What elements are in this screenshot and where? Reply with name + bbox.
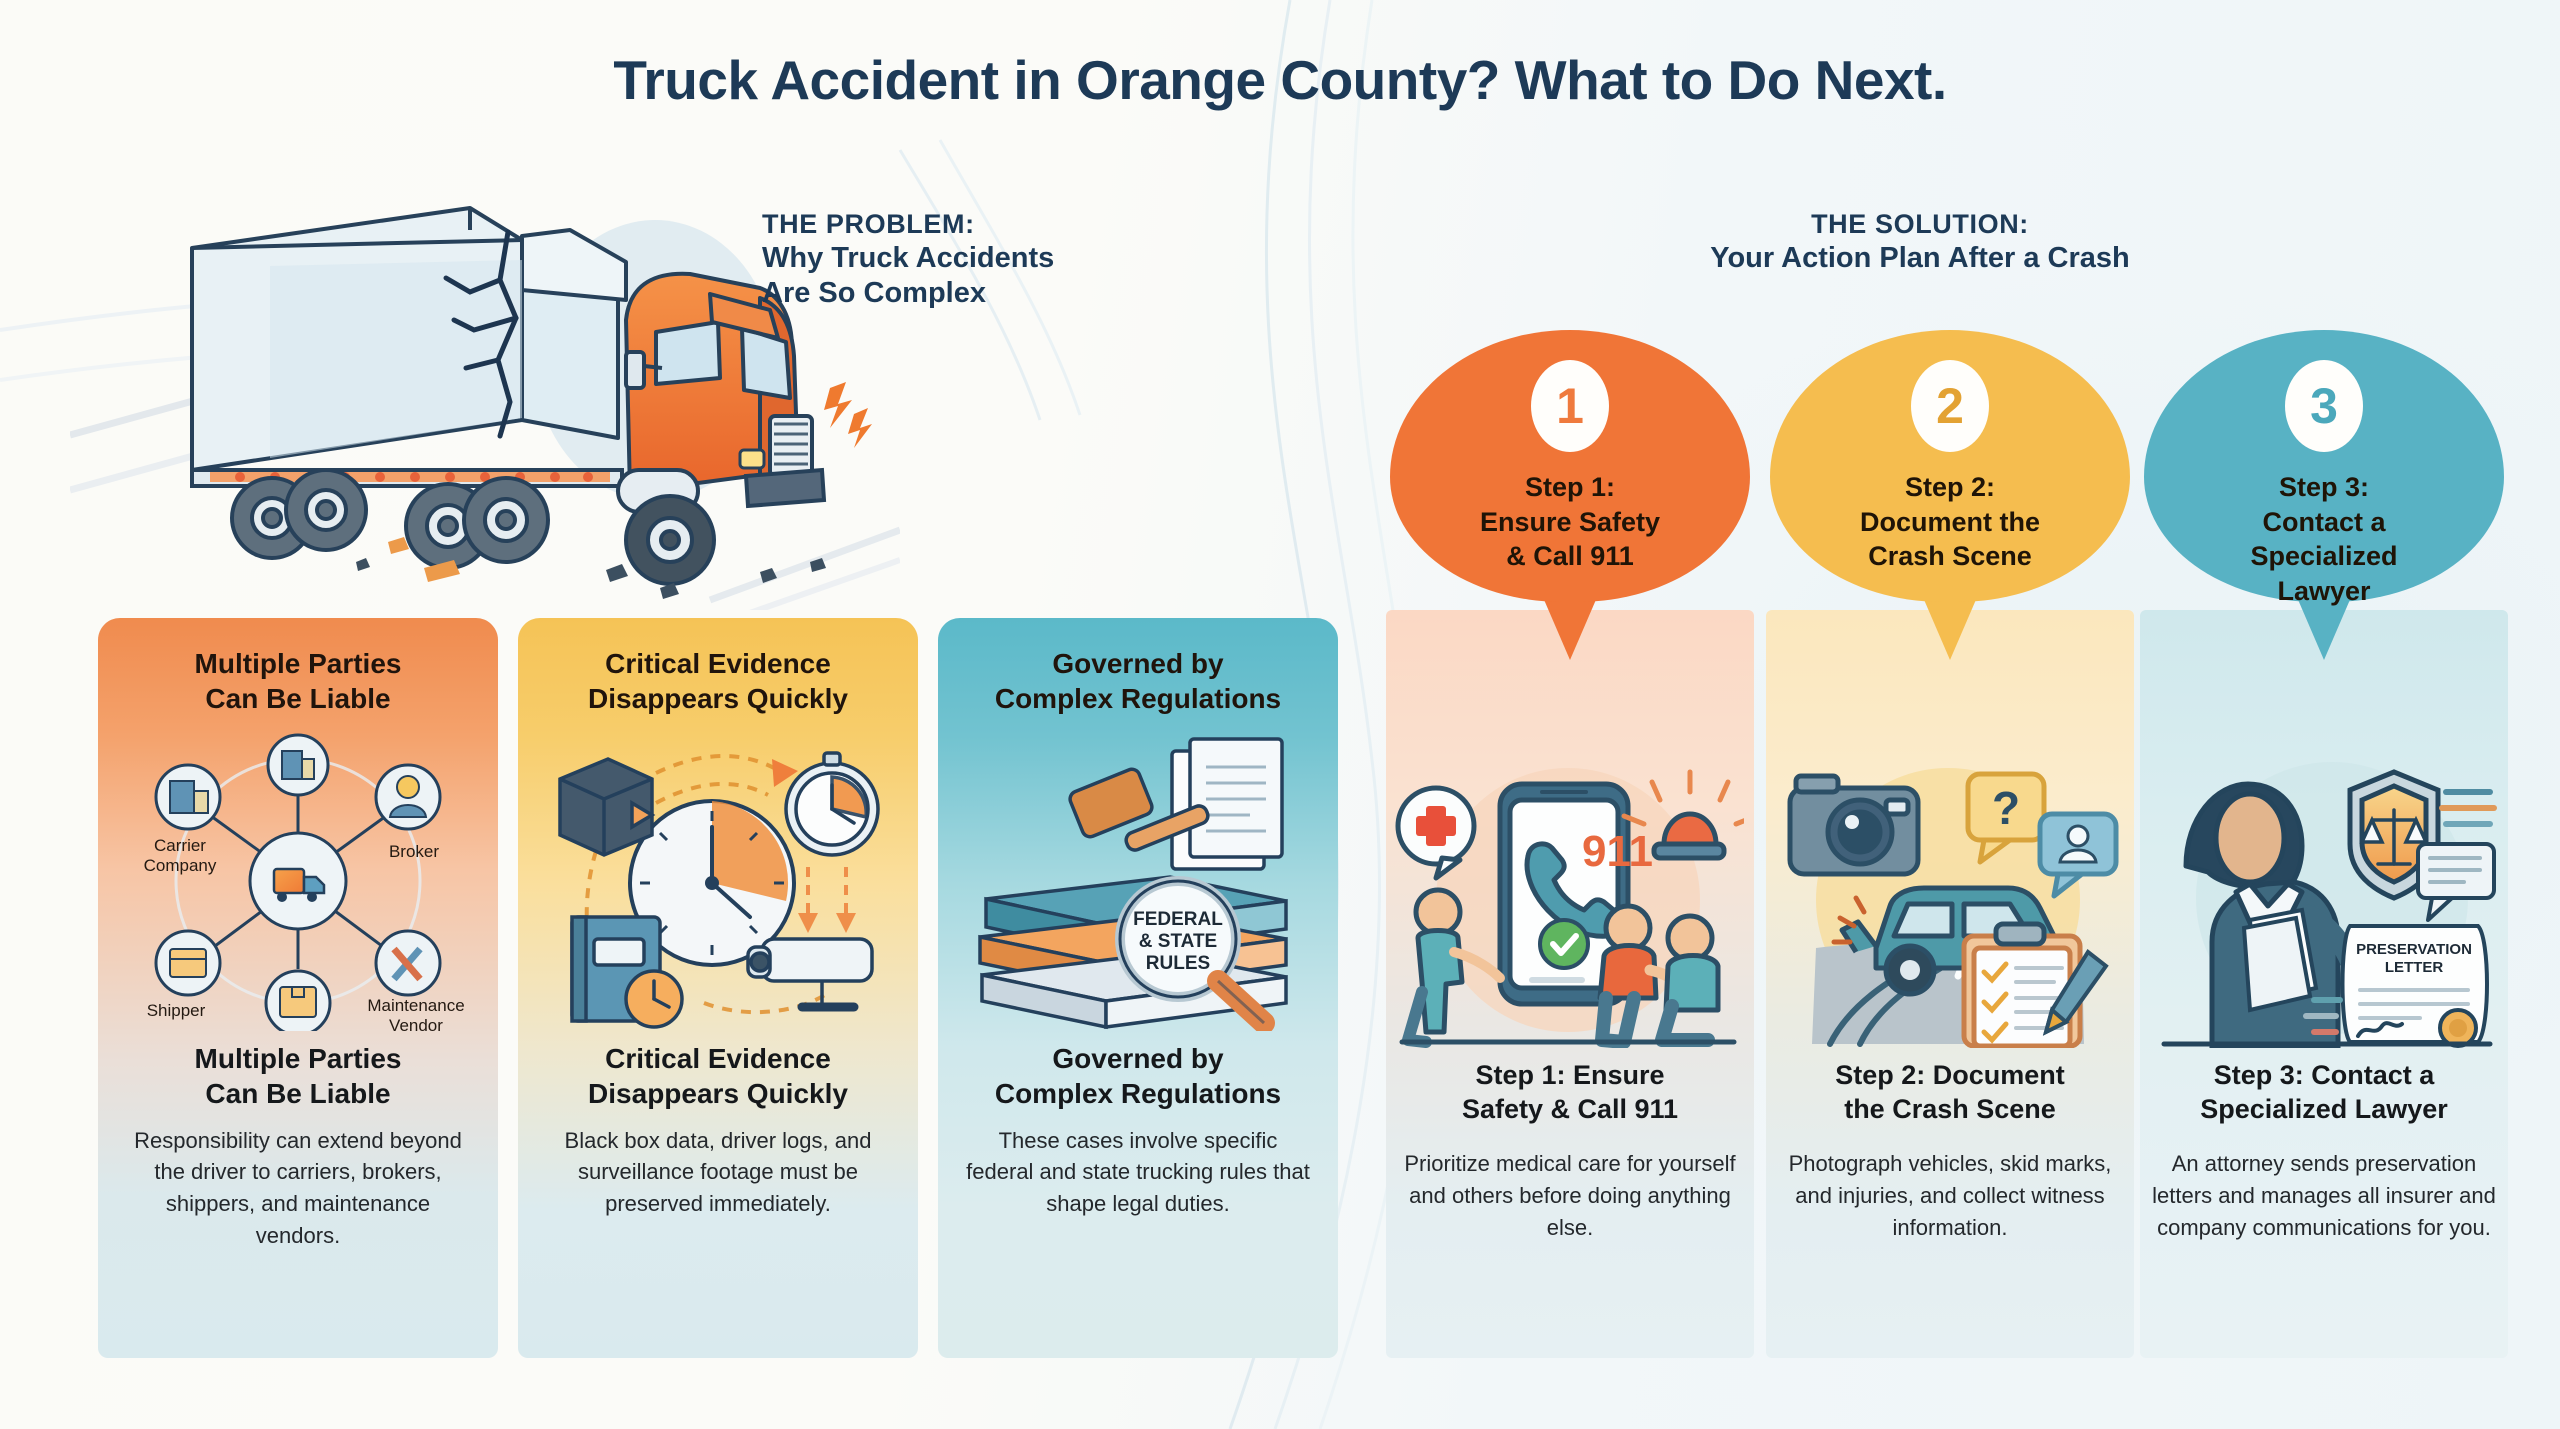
step-2-number-badge: 2 <box>1911 360 1989 452</box>
svg-text:Company: Company <box>144 856 217 875</box>
svg-text:Vendor: Vendor <box>389 1016 443 1031</box>
step-1-body: Prioritize medical care for yourself and… <box>1392 1148 1748 1244</box>
problem-card-1-footer-title: Multiple Parties Can Be Liable <box>98 1031 498 1111</box>
step-column-3[interactable]: 3 Step 3: Contact a Specialized Lawyer <box>2140 330 2508 1358</box>
problem-kicker: THE PROBLEM: <box>762 208 1054 241</box>
svg-text:& STATE: & STATE <box>1139 931 1217 952</box>
step-3-title: Step 3: Contact a Specialized Lawyer <box>2140 1058 2508 1126</box>
svg-text:RULES: RULES <box>1146 953 1210 974</box>
problem-card-1-body: Responsibility can extend beyond the dri… <box>98 1111 498 1253</box>
svg-text:911: 911 <box>1582 827 1653 876</box>
step-3-illustration-lawyer: PRESERVATION LETTER <box>2146 748 2498 1048</box>
problem-section-header: THE PROBLEM: Why Truck Accidents Are So … <box>762 208 1054 312</box>
step-1-illustration-call-911: 911 <box>1392 748 1744 1048</box>
svg-text:FEDERAL: FEDERAL <box>1133 909 1223 930</box>
step-column-2[interactable]: 2 Step 2: Document the Crash Scene <box>1766 330 2134 1358</box>
problem-card-3-header: Governed by Complex Regulations <box>938 618 1338 723</box>
svg-text:PRESERVATION: PRESERVATION <box>2356 941 2472 958</box>
step-2-illustration-document-scene: ? <box>1772 748 2124 1048</box>
step-1-number-badge: 1 <box>1531 360 1609 452</box>
step-1-pin[interactable]: 1 Step 1: Ensure Safety & Call 911 <box>1390 330 1750 660</box>
step-1-title: Step 1: Ensure Safety & Call 911 <box>1386 1058 1754 1126</box>
regulations-gavel-illustration: FEDERAL & STATE RULES <box>956 731 1320 1031</box>
step-3-number-badge: 3 <box>2285 360 2363 452</box>
problem-card-3-footer-title: Governed by Complex Regulations <box>938 1031 1338 1111</box>
problem-card-evidence-disappears[interactable]: Critical Evidence Disappears Quickly <box>518 618 918 1358</box>
step-3-pin-text: Step 3: Contact a Specialized Lawyer <box>2144 470 2504 608</box>
step-3-body: An attorney sends preservation letters a… <box>2146 1148 2502 1244</box>
problem-card-complex-regulations[interactable]: Governed by Complex Regulations <box>938 618 1338 1358</box>
svg-text:Maintenance: Maintenance <box>367 996 464 1015</box>
svg-text:?: ? <box>1992 782 2020 834</box>
solution-kicker: THE SOLUTION: <box>1520 208 2320 241</box>
step-2-pin[interactable]: 2 Step 2: Document the Crash Scene <box>1770 330 2130 660</box>
problem-card-multiple-parties[interactable]: Multiple Parties Can Be Liable <box>98 618 498 1358</box>
problem-card-2-body: Black box data, driver logs, and surveil… <box>518 1111 918 1221</box>
svg-text:Shipper: Shipper <box>147 1001 206 1020</box>
step-2-body: Photograph vehicles, skid marks, and inj… <box>1772 1148 2128 1244</box>
step-2-title: Step 2: Document the Crash Scene <box>1766 1058 2134 1126</box>
page-title: Truck Accident in Orange County? What to… <box>0 48 2560 112</box>
infographic-canvas: Truck Accident in Orange County? What to… <box>0 0 2560 1429</box>
problem-card-1-header: Multiple Parties Can Be Liable <box>98 618 498 723</box>
problem-card-2-footer-title: Critical Evidence Disappears Quickly <box>518 1031 918 1111</box>
problem-card-2-header: Critical Evidence Disappears Quickly <box>518 618 918 723</box>
liability-network-illustration: Carrier Company Broker Shipper Maintenan… <box>116 731 480 1031</box>
evidence-clock-illustration <box>536 731 900 1031</box>
svg-text:Carrier: Carrier <box>154 836 206 855</box>
step-3-pin[interactable]: 3 Step 3: Contact a Specialized Lawyer <box>2144 330 2504 660</box>
svg-text:Broker: Broker <box>389 842 439 861</box>
step-2-pin-text: Step 2: Document the Crash Scene <box>1770 470 2130 574</box>
step-column-1[interactable]: 1 Step 1: Ensure Safety & Call 911 911 <box>1386 330 1754 1358</box>
problem-subtitle-line1: Why Truck Accidents <box>762 241 1054 276</box>
solution-subtitle: Your Action Plan After a Crash <box>1520 241 2320 276</box>
step-1-pin-text: Step 1: Ensure Safety & Call 911 <box>1390 470 1750 574</box>
svg-text:LETTER: LETTER <box>2385 959 2443 976</box>
problem-subtitle-line2: Are So Complex <box>762 276 1054 311</box>
solution-section-header: THE SOLUTION: Your Action Plan After a C… <box>1520 208 2320 276</box>
problem-card-3-body: These cases involve specific federal and… <box>938 1111 1338 1221</box>
